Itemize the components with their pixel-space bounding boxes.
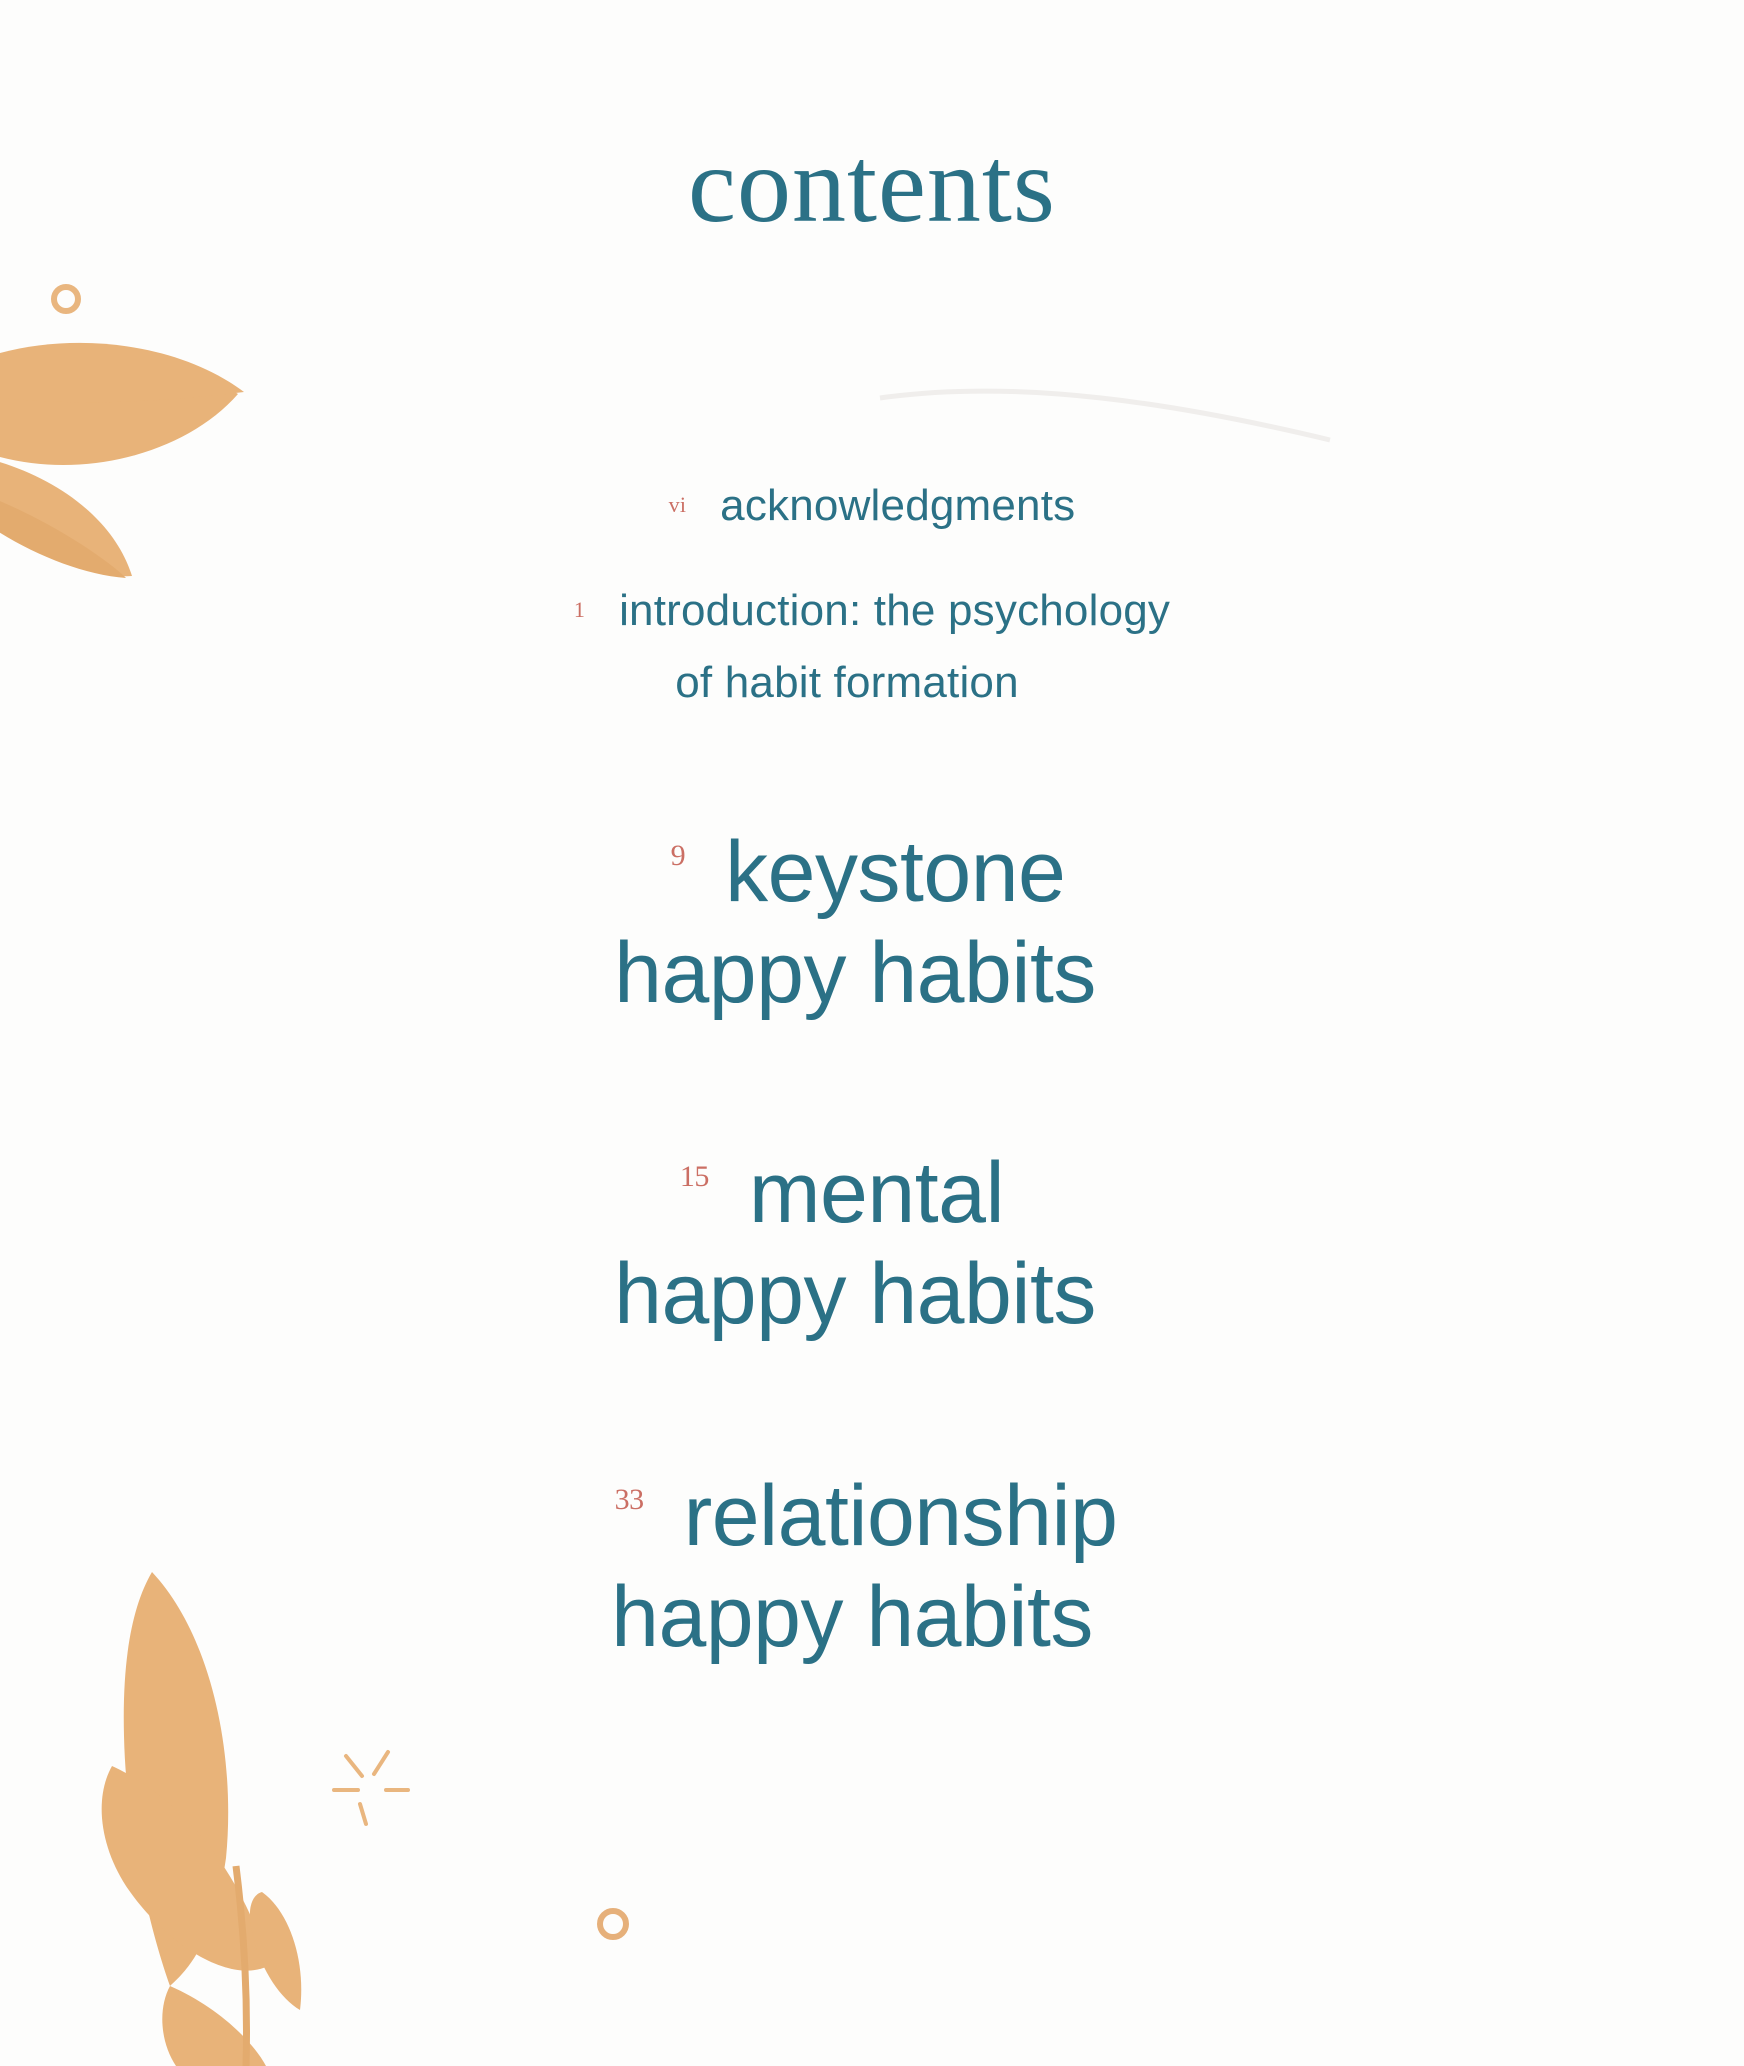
toc-page-number: 1 [574,597,585,622]
toc-entry-introduction[interactable]: 1introduction: the psychology of habit f… [0,575,1744,718]
table-of-contents: viacknowledgments 1introduction: the psy… [0,470,1744,1669]
sparkle-icon [334,1752,408,1824]
toc-page-number: 33 [615,1483,644,1516]
toc-page-number: 9 [671,839,686,872]
contents-page: contents viacknowledgments 1introduction… [0,0,1744,2066]
toc-entry-keystone-happy-habits[interactable]: 9keystone happy habits [0,822,1744,1025]
toc-entry-label-cont: happy habits [0,1567,1744,1668]
page-title: contents [0,132,1744,240]
toc-entry-acknowledgments[interactable]: viacknowledgments [0,470,1744,541]
toc-page-number: vi [669,492,687,517]
toc-page-number: 15 [680,1160,709,1193]
toc-entry-label-cont: of habit formation [0,647,1744,718]
toc-entry-label: keystone [725,824,1065,920]
toc-entry-relationship-happy-habits[interactable]: 33relationship happy habits [0,1466,1744,1669]
paper-streak [880,391,1330,440]
toc-entry-label: relationship [684,1468,1118,1564]
toc-entry-label: mental [749,1145,1004,1241]
toc-entry-label-cont: happy habits [0,923,1744,1024]
small-ring-icon [600,1911,626,1937]
toc-entry-mental-happy-habits[interactable]: 15mental happy habits [0,1143,1744,1346]
toc-entry-label: introduction: the psychology [619,586,1170,635]
toc-entry-label-cont: happy habits [0,1244,1744,1345]
small-ring-icon [54,287,78,311]
toc-entry-label: acknowledgments [720,481,1075,530]
